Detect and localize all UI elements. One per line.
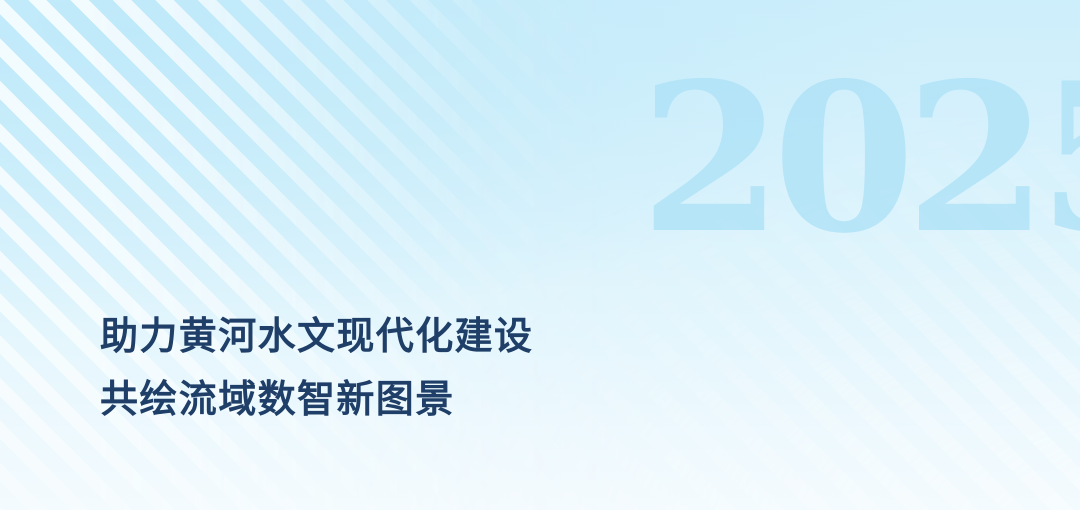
background-gradient [0, 0, 1080, 510]
promo-banner: 2025 助力黄河水文现代化建设 共绘流域数智新图景 [0, 0, 1080, 510]
headline-block: 助力黄河水文现代化建设 共绘流域数智新图景 [100, 306, 660, 432]
year-watermark-text: 2025 [640, 39, 1080, 279]
diagonal-stripes-corner-pattern [0, 0, 1080, 510]
year-watermark: 2025 [640, 58, 1000, 258]
diagonal-stripes-pattern [0, 0, 1080, 510]
headline-line-1: 助力黄河水文现代化建设 [100, 306, 660, 369]
headline-line-2: 共绘流域数智新图景 [100, 369, 660, 432]
